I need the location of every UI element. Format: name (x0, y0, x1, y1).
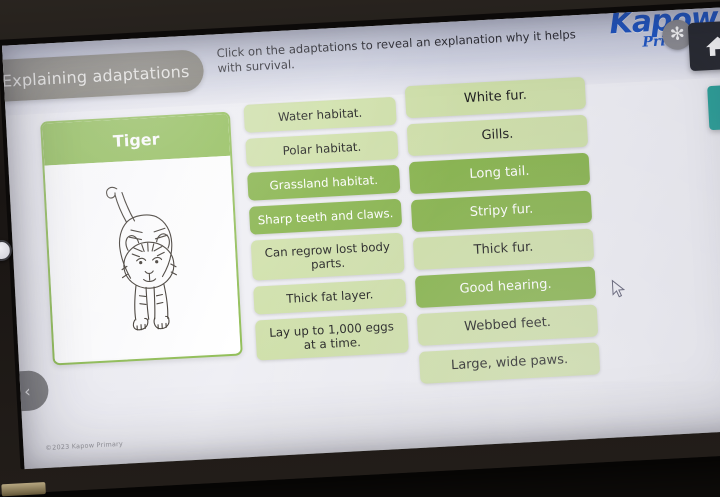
whiteboard-screen: Kapow Primary Explaining adaptations Cli… (2, 6, 720, 469)
animal-card: Tiger (40, 112, 243, 366)
tiger-illustration (44, 156, 240, 362)
adaptation-option[interactable]: Water habitat. (243, 97, 396, 133)
adaptation-option[interactable]: Grassland habitat. (247, 165, 400, 201)
adaptation-option[interactable]: Good hearing. (415, 266, 596, 308)
adaptation-option[interactable]: Gills. (407, 115, 588, 157)
adaptation-option[interactable]: Sharp teeth and claws. (249, 199, 402, 235)
snowflake-glyph: ✻ (669, 25, 685, 44)
home-button[interactable] (688, 20, 720, 71)
adaptation-option[interactable]: Large, wide paws. (419, 342, 600, 384)
adaptation-option[interactable]: Webbed feet. (417, 304, 598, 346)
adaptation-option[interactable]: Polar habitat. (245, 131, 398, 167)
interactive-whiteboard-bezel: Kapow Primary Explaining adaptations Cli… (0, 0, 720, 495)
adaptation-option[interactable]: Thick fat layer. (253, 279, 406, 315)
copyright-text: ©2023 Kapow Primary (45, 440, 123, 452)
adaptation-option[interactable]: Can regrow lost body parts. (251, 233, 405, 281)
tiger-line-drawing-icon (78, 170, 207, 346)
board-pen-tray (1, 482, 46, 496)
chevron-left-icon: ‹ (24, 381, 31, 400)
back-button[interactable]: ‹ (5, 370, 49, 412)
adaptation-option[interactable]: Stripy fur. (411, 191, 592, 233)
page-number-tab[interactable]: 3 (707, 84, 720, 130)
adaptation-column-b: White fur.Gills.Long tail.Stripy fur.Thi… (405, 77, 601, 384)
home-icon (703, 33, 720, 58)
adaptation-option[interactable]: Long tail. (409, 153, 590, 195)
adaptation-column-a: Water habitat.Polar habitat.Grassland ha… (243, 97, 408, 361)
mouse-pointer-icon (611, 279, 626, 300)
adaptation-option[interactable]: Thick fur. (413, 229, 594, 271)
adaptation-option[interactable]: Lay up to 1,000 eggs at a time. (255, 313, 409, 361)
